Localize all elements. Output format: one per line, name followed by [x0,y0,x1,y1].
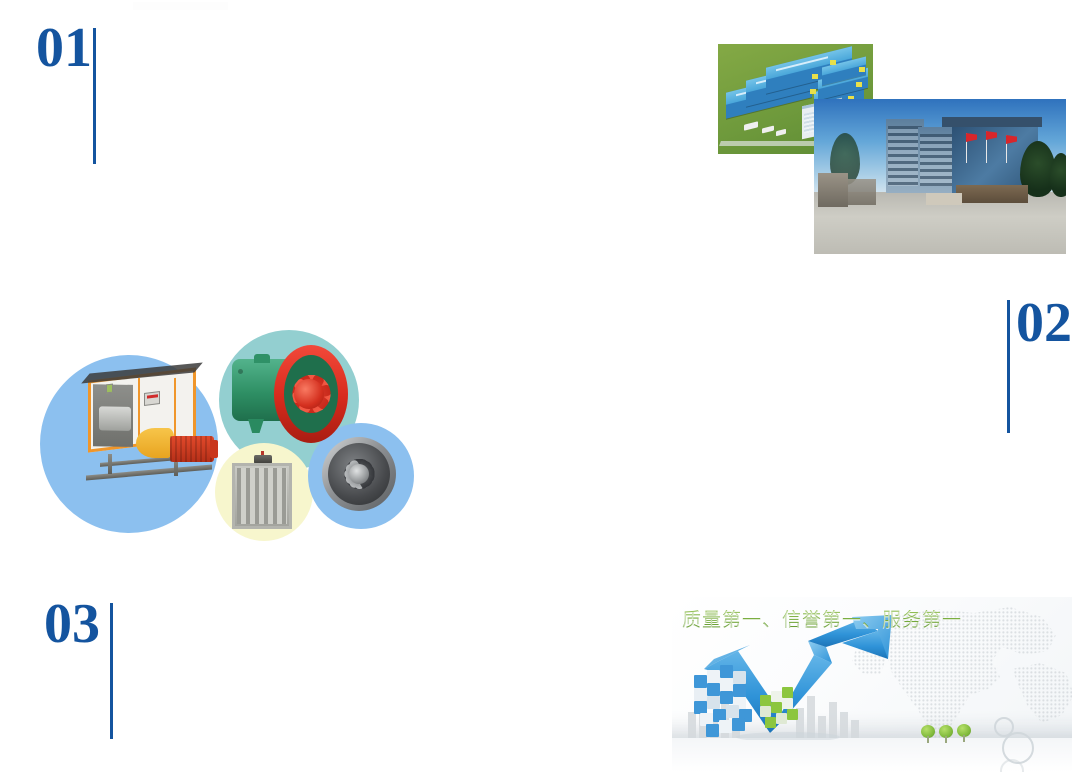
axial-fan-hub [294,379,324,409]
factory-marker-4 [856,82,862,87]
axial-flow-fan [232,345,348,447]
gate-arch [848,179,876,205]
gate-house [818,173,848,207]
damper-blades [237,468,287,524]
top-edge-artifact [133,2,228,10]
factory-marker-2 [859,67,865,72]
section-number-03: 03 [44,596,100,652]
factory-marker-3 [812,74,818,79]
impeller-hub [349,464,369,484]
factory-marker-1 [830,60,836,65]
company-profile-page: 01 [0,0,1074,772]
fan-wheel [99,406,131,431]
section-rule-01 [93,28,96,164]
section-rule-02 [1007,300,1010,433]
aluminium-impeller-fan [322,437,404,515]
fan-panel-seam-2 [174,378,176,440]
fan-motor [170,436,214,462]
section-number-02: 02 [1016,295,1072,351]
axial-fan-junction-box [254,354,270,363]
fan-inlet-face [93,384,133,447]
fan-control-box [144,391,160,406]
air-volume-damper [232,455,292,530]
office-roof-band [942,117,1042,127]
fan-indicator-light [106,384,113,394]
banner-tree-1 [918,725,938,745]
banner-tree-2 [936,725,956,745]
pine-tree-far-right [1050,153,1066,197]
planter-block [926,193,962,205]
section-rule-03 [110,603,113,739]
office-building-photo [814,99,1066,254]
fan-base-rail-front [86,464,212,480]
axial-fan-foot [248,419,264,433]
fan-base-leg-1 [108,454,112,474]
fan-belt-guard [136,428,174,458]
slogan-text: 质量第一、信誉第一、服务第一 [682,605,962,632]
section-number-01: 01 [36,20,92,76]
factory-marker-5 [810,89,816,94]
office-wing-mid [918,127,956,193]
fan-panel-seam-1 [138,378,140,440]
cabinet-centrifugal-fan [78,366,218,491]
banner-tree-3 [954,724,974,744]
entrance-wall [956,185,1028,203]
slogan-banner: 质量第一、信誉第一、服务第一 [672,597,1072,772]
fan-motor-cap [210,440,218,458]
